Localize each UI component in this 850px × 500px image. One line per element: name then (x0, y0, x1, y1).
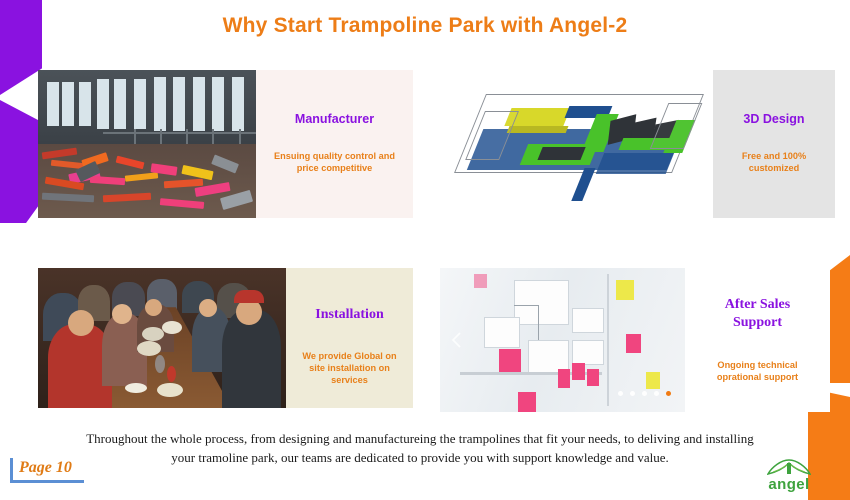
card-manufacturer-body: Ensuing quality control and price compet… (272, 150, 397, 175)
slide-title: Why Start Trampoline Park with Angel-2 (0, 14, 850, 38)
carousel-dot[interactable] (642, 391, 647, 396)
footer-paragraph: Throughout the whole process, from desig… (75, 430, 765, 468)
carousel-dot[interactable] (630, 391, 635, 396)
card-installation-panel: Installation We provide Global on site i… (286, 268, 413, 408)
card-3d-design-body: Free and 100% customized (728, 150, 820, 175)
card-after-sales-body: Ongoing technical oprational support (703, 359, 813, 384)
card-3d-design: 3D Design Free and 100% customized (443, 70, 835, 218)
slide-canvas: Why Start Trampoline Park with Angel-2 (0, 0, 850, 500)
card-after-sales-heading: After Sales Support (710, 296, 805, 331)
chevron-left-icon[interactable] (450, 331, 463, 349)
angel-logo: angel (758, 455, 820, 495)
carousel-dot-active[interactable] (666, 391, 671, 396)
card-3d-design-panel: 3D Design Free and 100% customized (713, 70, 835, 218)
carousel-dot[interactable] (618, 391, 623, 396)
card-manufacturer-heading: Manufacturer (295, 112, 374, 128)
card-after-sales-panel: After Sales Support Ongoing technical op… (685, 268, 830, 412)
installation-team-dinner-photo (38, 268, 286, 408)
angel-wing-icon (767, 459, 811, 476)
card-installation-body: We provide Global on site installation o… (295, 350, 405, 387)
card-manufacturer-panel: Manufacturer Ensuing quality control and… (256, 70, 413, 218)
trampoline-park-3d-render (443, 70, 713, 218)
card-installation: Installation We provide Global on site i… (38, 268, 413, 408)
card-after-sales-support: After Sales Support Ongoing technical op… (440, 268, 830, 412)
card-manufacturer: Manufacturer Ensuing quality control and… (38, 70, 413, 218)
angel-logo-text: angel (768, 477, 809, 492)
page-number: Page 10 (10, 458, 84, 483)
whiteboard-planning-photo (440, 268, 685, 412)
decor-purple-shape-bottom (0, 100, 42, 223)
card-3d-design-heading: 3D Design (743, 112, 804, 128)
carousel-dots[interactable] (618, 391, 671, 396)
card-installation-heading: Installation (315, 306, 383, 324)
carousel-dot[interactable] (654, 391, 659, 396)
factory-floor-photo (38, 70, 256, 218)
